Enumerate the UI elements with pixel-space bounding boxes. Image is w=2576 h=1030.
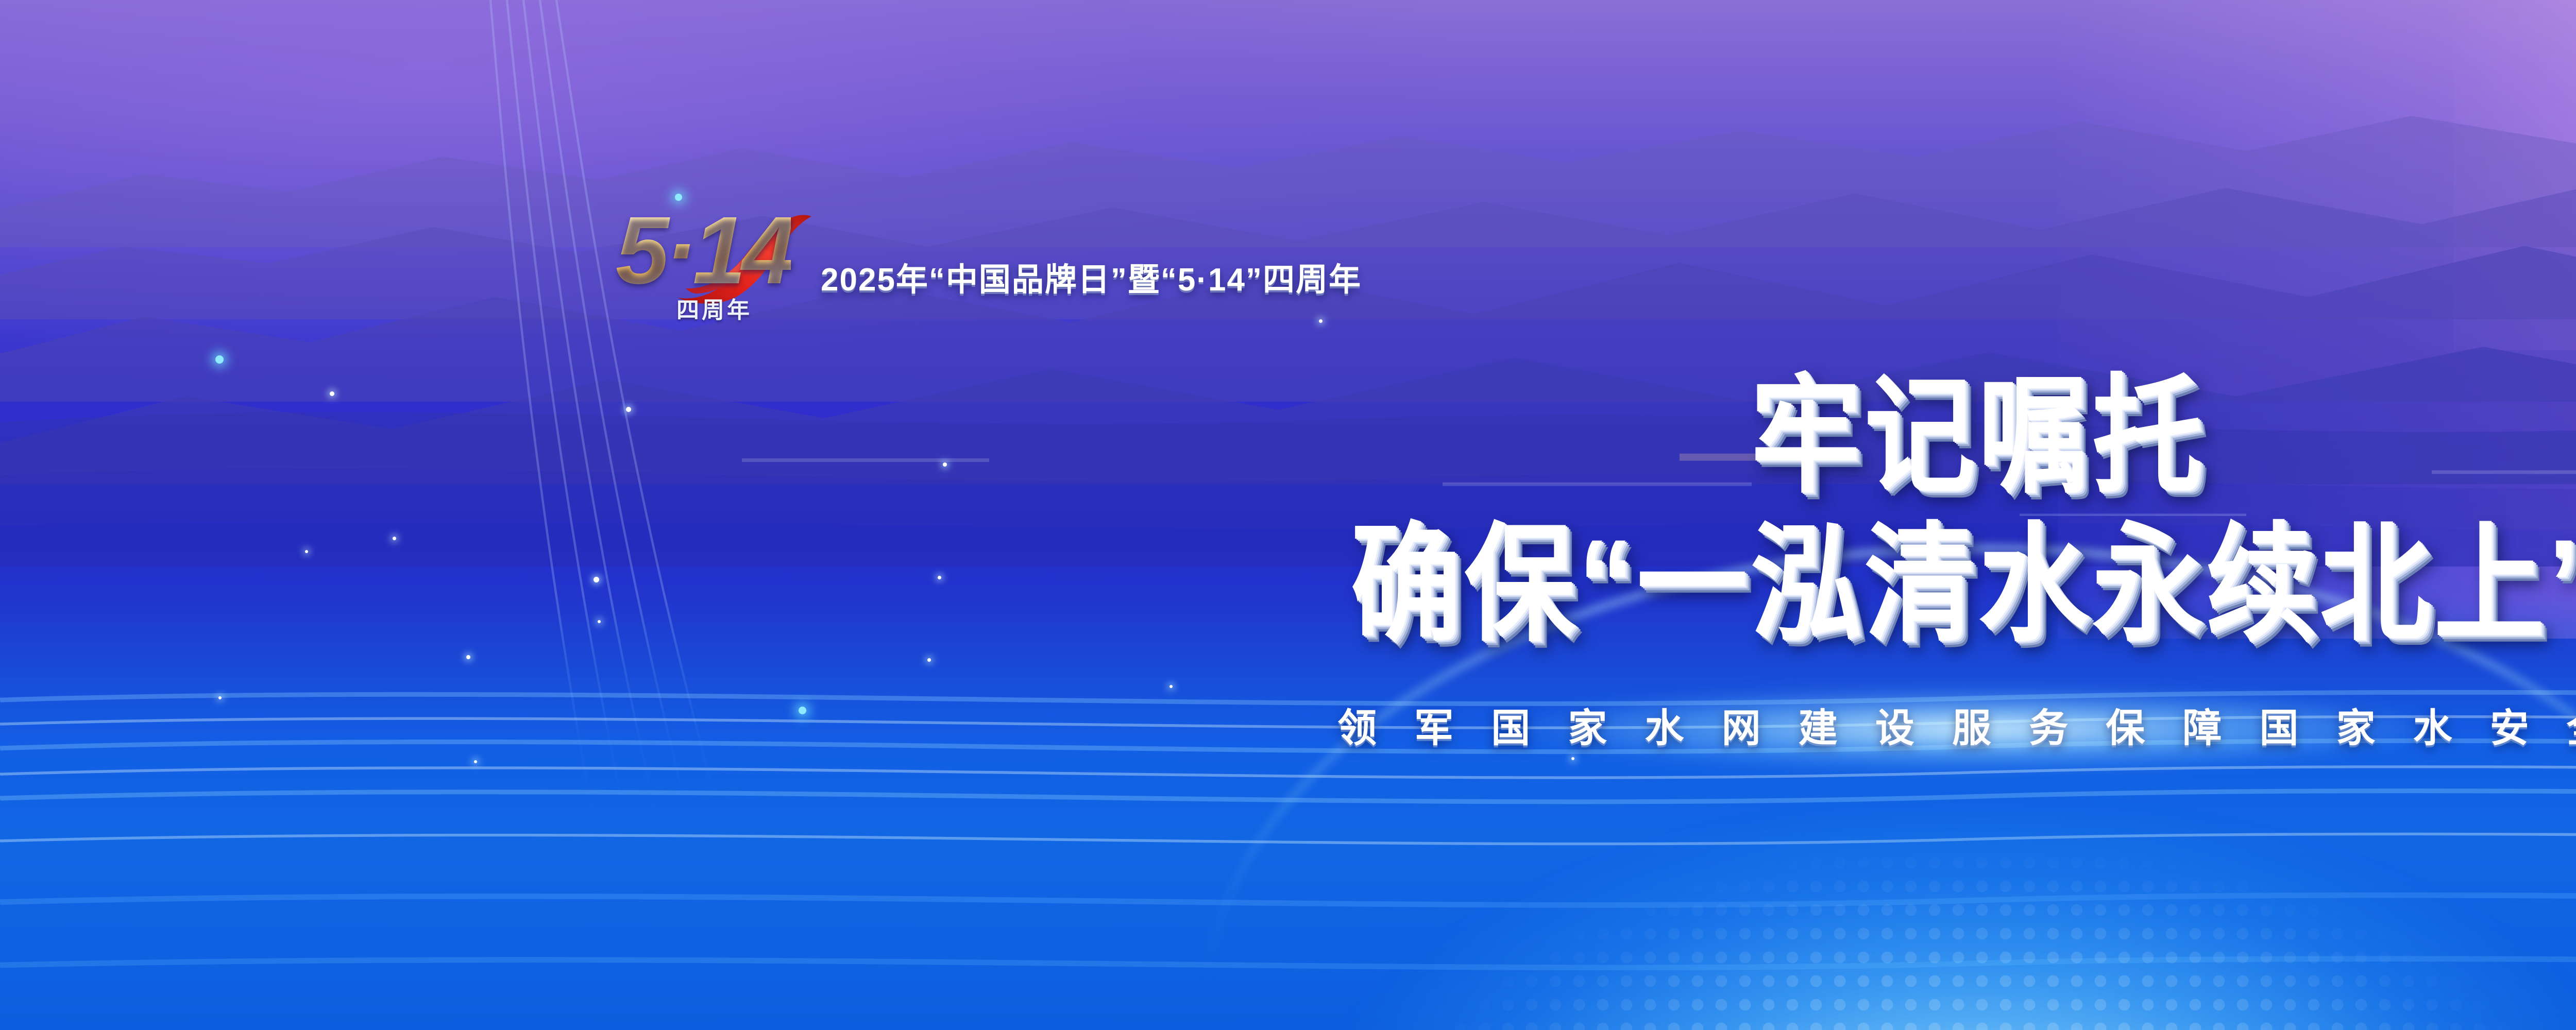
event-title: 2025年“中国品牌日”暨“5·14”四周年 (821, 253, 1362, 300)
anniversary-logo: 5·14 四周年 (616, 200, 801, 329)
banner-stage: 5·14 四周年 2025年“中国品牌日”暨“5·14”四周年 (0, 0, 2576, 1030)
banner-content: 5·14 四周年 2025年“中国品牌日”暨“5·14”四周年 (0, 0, 2576, 1030)
headline-line-2: 确保“一泓清水永续北上” (1351, 509, 2576, 660)
headline-line-1: 牢记嘱托 (1751, 360, 2206, 512)
banner-subtitle: 领 军 国 家 水 网 建 设 服 务 保 障 国 家 水 安 全 (0, 696, 2576, 753)
headline-block: 牢记嘱托 确保“一泓清水永续北上” (0, 360, 2576, 639)
anniversary-sub-label: 四周年 (676, 291, 752, 324)
anniversary-lockup: 5·14 四周年 2025年“中国品牌日”暨“5·14”四周年 (616, 200, 1362, 329)
anniversary-number: 5·14 (616, 203, 791, 299)
